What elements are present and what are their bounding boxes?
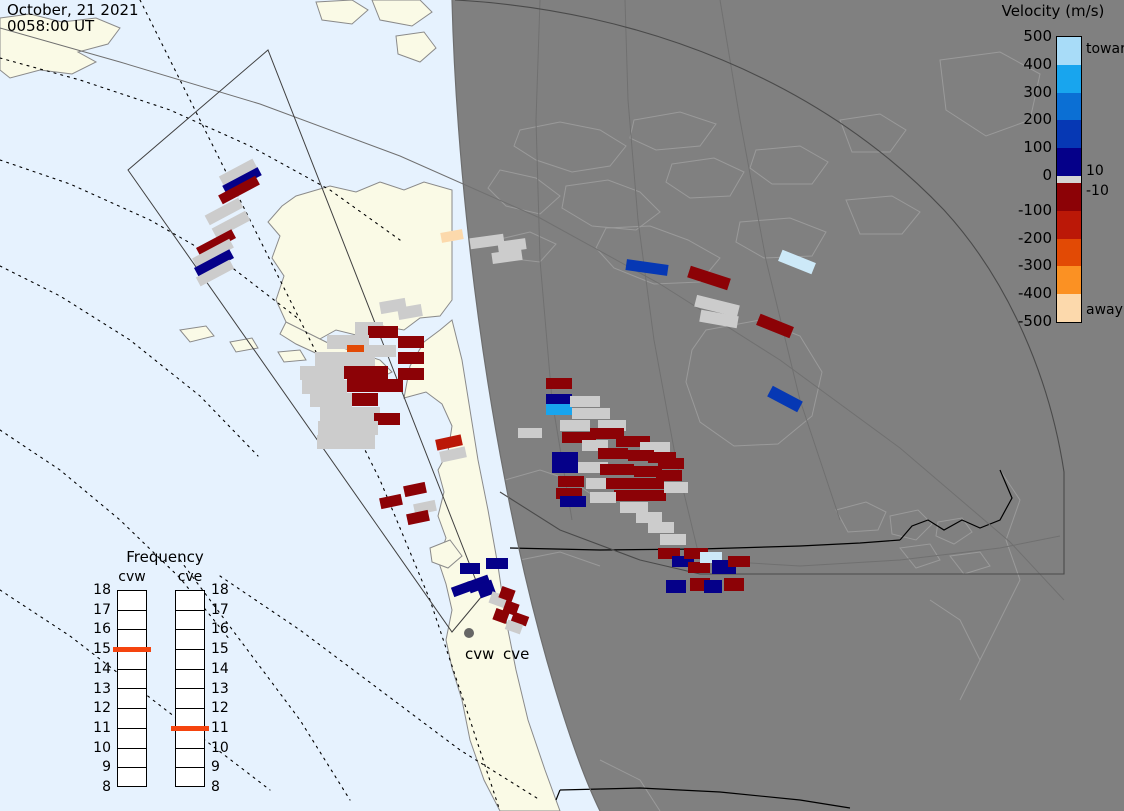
- range-gate-cell: [666, 580, 686, 593]
- range-gate-cell: [344, 366, 388, 379]
- frequency-scale-segment: [118, 591, 146, 611]
- frequency-scale-segment: [118, 768, 146, 788]
- frequency-scale-cve: [175, 590, 205, 787]
- colorbar-band: [1057, 148, 1081, 177]
- range-gate-cell: [375, 379, 403, 392]
- radar-site-label-cvw: cvw: [465, 645, 494, 663]
- colorbar-tick: -100: [1018, 201, 1052, 219]
- range-gate-cell: [486, 558, 508, 569]
- colorbar-neg-threshold-label: -10: [1086, 183, 1109, 199]
- range-gate-cell: [398, 368, 424, 380]
- frequency-column-label-cve: cve: [168, 569, 212, 585]
- frequency-tick: 16: [211, 621, 233, 637]
- frequency-tick: 13: [89, 681, 111, 697]
- frequency-scale-segment: [118, 670, 146, 690]
- range-gate-cell: [600, 464, 634, 475]
- radar-site-dot: [464, 628, 474, 638]
- frequency-marker-cvw: [113, 647, 151, 652]
- frequency-scale-segment: [118, 650, 146, 670]
- frequency-tick: 18: [211, 582, 233, 598]
- range-gate-cell: [368, 326, 398, 338]
- frequency-legend-title: Frequency: [95, 548, 235, 566]
- range-gate-cell: [606, 478, 636, 489]
- range-gate-cell: [664, 482, 688, 493]
- colorbar-band: [1057, 93, 1081, 122]
- colorbar-band: [1057, 65, 1081, 94]
- frequency-tick: 15: [211, 641, 233, 657]
- frequency-tick: 17: [89, 602, 111, 618]
- frequency-tick: 12: [211, 700, 233, 716]
- colorbar-tick: -500: [1018, 312, 1052, 330]
- colorbar-tick: 400: [1023, 55, 1052, 73]
- frequency-tick: 9: [89, 759, 111, 775]
- frequency-tick: 14: [89, 661, 111, 677]
- range-gate-cell: [518, 428, 542, 438]
- range-gate-cell: [352, 393, 378, 406]
- velocity-colorbar: Velocity (m/s) 5004003002001000-100-200-…: [980, 0, 1124, 340]
- range-gate-cell: [398, 352, 424, 364]
- range-gate-cell: [302, 380, 347, 394]
- frequency-scale-segment: [176, 729, 204, 749]
- frequency-tick: 14: [211, 661, 233, 677]
- frequency-tick: 10: [89, 740, 111, 756]
- frequency-scale-segment: [176, 611, 204, 631]
- frequency-tick: 12: [89, 700, 111, 716]
- range-gate-cell: [614, 490, 640, 501]
- range-gate-cell: [320, 407, 380, 421]
- range-gate-cell: [364, 345, 396, 357]
- colorbar-title: Velocity (m/s): [984, 2, 1122, 20]
- range-gate-cell: [688, 562, 710, 573]
- range-gate-cell: [560, 420, 590, 431]
- colorbar-tick: -300: [1018, 256, 1052, 274]
- colorbar-band: [1057, 176, 1081, 183]
- frequency-scale-segment: [176, 670, 204, 690]
- colorbar-toward-label: toward: [1086, 41, 1124, 57]
- frequency-tick: 10: [211, 740, 233, 756]
- colorbar-tick: 100: [1023, 138, 1052, 156]
- frequency-scale-segment: [118, 611, 146, 631]
- range-gate-cell: [704, 580, 722, 593]
- colorbar-band: [1057, 37, 1081, 66]
- range-gate-cell: [300, 366, 344, 380]
- frequency-tick: 18: [89, 582, 111, 598]
- colorbar-side-labels: toward10-10away: [1086, 36, 1124, 323]
- range-gate-cell: [318, 421, 378, 435]
- range-gate-cell: [310, 393, 352, 407]
- range-gate-cell: [572, 408, 610, 419]
- range-gate-cell: [656, 470, 682, 481]
- frequency-tick: 8: [89, 779, 111, 795]
- radar-site-label-cve: cve: [503, 645, 529, 663]
- range-gate-cell: [660, 534, 686, 545]
- frequency-scale-segment: [176, 591, 204, 611]
- colorbar-tick: 0: [1042, 166, 1052, 184]
- frequency-legend: Frequency cvw18171615141312111098cve1817…: [95, 548, 235, 788]
- range-gate-cell: [570, 396, 600, 407]
- colorbar-band: [1057, 239, 1081, 268]
- frequency-tick: 15: [89, 641, 111, 657]
- frequency-column-label-cvw: cvw: [110, 569, 154, 585]
- colorbar-band: [1057, 294, 1081, 323]
- range-gate-cell: [546, 378, 572, 389]
- range-gate-cell: [640, 490, 666, 501]
- range-gate-cell: [636, 512, 662, 523]
- colorbar-band: [1057, 266, 1081, 295]
- range-gate-cell: [552, 462, 578, 473]
- range-gate-cell: [620, 502, 648, 513]
- frequency-scale-segment: [176, 768, 204, 788]
- range-gate-cell: [728, 556, 750, 567]
- frequency-tick: 9: [211, 759, 233, 775]
- radar-map-figure: October, 21 2021 0058:00 UT Velocity (m/…: [0, 0, 1124, 811]
- frequency-scale-cvw: [117, 590, 147, 787]
- range-gate-cell: [460, 563, 480, 574]
- frequency-marker-cve: [171, 726, 209, 731]
- frequency-scale-segment: [176, 630, 204, 650]
- range-gate-cell: [724, 578, 744, 591]
- range-gate-cell: [560, 496, 586, 507]
- colorbar-away-label: away: [1086, 302, 1123, 318]
- range-gate-cell: [317, 435, 375, 449]
- frequency-tick: 17: [211, 602, 233, 618]
- range-gate-cell: [347, 379, 375, 392]
- range-gate-cell: [552, 452, 578, 463]
- frequency-scale-segment: [118, 729, 146, 749]
- colorbar-gradient: [1056, 36, 1082, 323]
- frequency-scale-segment: [118, 690, 146, 710]
- timestamp-label: October, 21 2021 0058:00 UT: [7, 2, 139, 34]
- range-gate-cell: [598, 448, 628, 459]
- colorbar-pos-threshold-label: 10: [1086, 163, 1104, 179]
- colorbar-tick: -400: [1018, 284, 1052, 302]
- colorbar-tick-labels: 5004003002001000-100-200-300-400-500: [980, 36, 1052, 323]
- range-gate-cell: [658, 458, 684, 469]
- range-gate-cell: [546, 404, 572, 415]
- frequency-scale-segment: [118, 749, 146, 769]
- frequency-scale-segment: [176, 749, 204, 769]
- frequency-scale-segment: [176, 650, 204, 670]
- range-gate-cell: [546, 394, 572, 405]
- frequency-scale-segment: [176, 690, 204, 710]
- range-gate-cell: [398, 336, 424, 348]
- range-gate-cell: [590, 492, 616, 503]
- colorbar-tick: 200: [1023, 110, 1052, 128]
- colorbar-band: [1057, 183, 1081, 212]
- colorbar-tick: 300: [1023, 83, 1052, 101]
- frequency-tick: 8: [211, 779, 233, 795]
- colorbar-tick: -200: [1018, 229, 1052, 247]
- frequency-tick: 11: [89, 720, 111, 736]
- frequency-tick: 11: [211, 720, 233, 736]
- range-gate-cell: [648, 522, 674, 533]
- frequency-scale-segment: [118, 709, 146, 729]
- colorbar-band: [1057, 211, 1081, 240]
- frequency-tick: 13: [211, 681, 233, 697]
- colorbar-band: [1057, 120, 1081, 149]
- colorbar-tick: 500: [1023, 27, 1052, 45]
- range-gate-cell: [558, 476, 584, 487]
- frequency-tick: 16: [89, 621, 111, 637]
